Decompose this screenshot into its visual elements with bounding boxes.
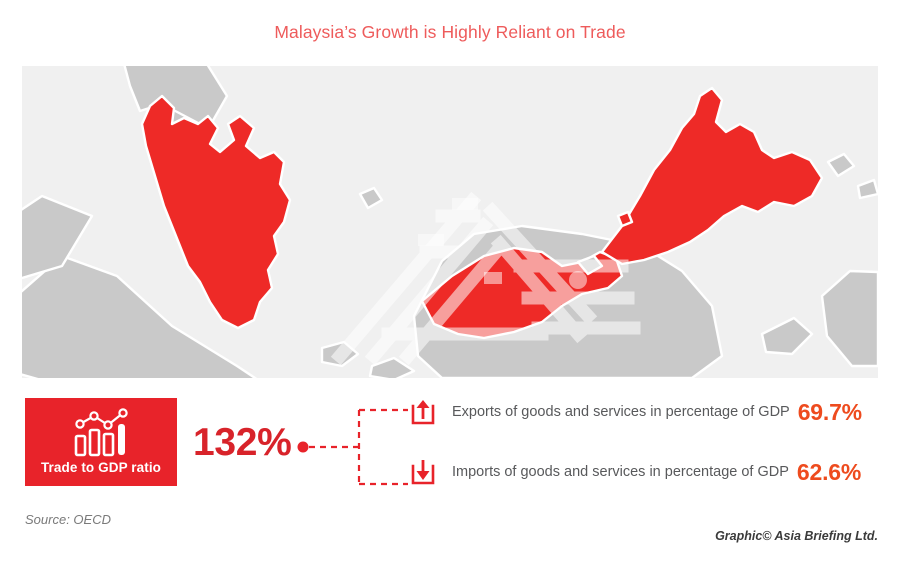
import-down-arrow-icon bbox=[408, 457, 438, 487]
imports-row-label: Imports of goods and services in percent… bbox=[452, 464, 789, 480]
page-title: Malaysia’s Growth is Highly Reliant on T… bbox=[0, 22, 900, 43]
exports-row-value: 69.7% bbox=[798, 399, 862, 426]
bar-chart-trend-icon bbox=[67, 408, 135, 460]
connector-bracket bbox=[296, 398, 416, 488]
credit-note: Graphic© Asia Briefing Ltd. bbox=[715, 529, 878, 543]
exports-row: Exports of goods and services in percent… bbox=[408, 395, 862, 429]
connector-dot bbox=[298, 442, 309, 453]
malaysia-map bbox=[22, 66, 878, 378]
imports-row: Imports of goods and services in percent… bbox=[408, 455, 861, 489]
export-up-arrow-icon bbox=[408, 397, 438, 427]
map-panel bbox=[22, 66, 878, 378]
trade-to-gdp-ratio-label: Trade to GDP ratio bbox=[25, 460, 177, 475]
trade-to-gdp-ratio-value: 132% bbox=[193, 421, 292, 465]
trade-to-gdp-ratio-card: Trade to GDP ratio bbox=[25, 398, 177, 486]
exports-row-label: Exports of goods and services in percent… bbox=[452, 404, 790, 420]
source-note: Source: OECD bbox=[25, 512, 111, 527]
imports-row-value: 62.6% bbox=[797, 459, 861, 486]
